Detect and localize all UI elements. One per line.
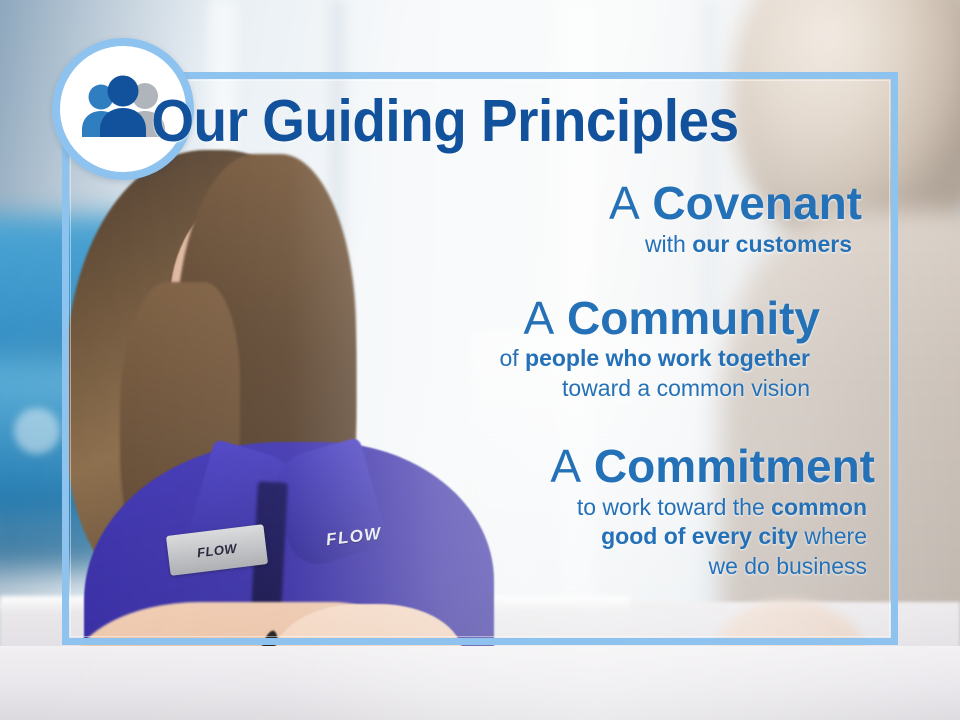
principle-description-line: good of every city where — [300, 522, 867, 551]
plain-text: of — [499, 345, 525, 371]
emphasis-text: people who work together — [525, 345, 810, 371]
principle-keyword: Community — [567, 292, 820, 344]
principle-heading: A Community — [300, 293, 820, 345]
principle-lead-article: A — [524, 292, 555, 344]
principle-covenant: A Covenant with our customers — [300, 178, 880, 259]
principle-keyword: Commitment — [594, 440, 875, 492]
principle-lead-article: A — [609, 177, 640, 229]
principle-description: with our customers — [300, 230, 862, 259]
plain-text: to work toward the — [577, 494, 771, 520]
principles-list: A Covenant with our customers A Communit… — [300, 178, 880, 585]
principle-keyword: Covenant — [652, 177, 862, 229]
principle-community: A Community of people who work togethert… — [300, 293, 880, 403]
emphasis-text: common — [771, 494, 867, 520]
principle-description-line: with our customers — [300, 230, 852, 259]
principle-description-line: we do business — [300, 552, 867, 581]
page-title: Our Guiding Principles — [31, 92, 859, 151]
principle-description-line: toward a common vision — [300, 374, 810, 403]
plain-text: toward a common vision — [562, 375, 810, 401]
emphasis-text: good of every city — [601, 523, 798, 549]
plain-text: where — [798, 523, 867, 549]
principle-description: to work toward the commongood of every c… — [300, 493, 875, 581]
principle-commitment: A Commitment to work toward the commongo… — [300, 441, 880, 581]
principle-heading: A Commitment — [300, 441, 875, 493]
guiding-principles-graphic: FLOW FLOW — [0, 0, 960, 720]
principle-description-line: of people who work together — [300, 344, 810, 373]
principle-lead-article: A — [550, 440, 581, 492]
principle-description: of people who work togethertoward a comm… — [300, 344, 820, 403]
plain-text: with — [645, 231, 692, 257]
emphasis-text: our customers — [692, 231, 852, 257]
plain-text: we do business — [708, 553, 867, 579]
principle-description-line: to work toward the common — [300, 493, 867, 522]
principle-heading: A Covenant — [300, 178, 862, 230]
